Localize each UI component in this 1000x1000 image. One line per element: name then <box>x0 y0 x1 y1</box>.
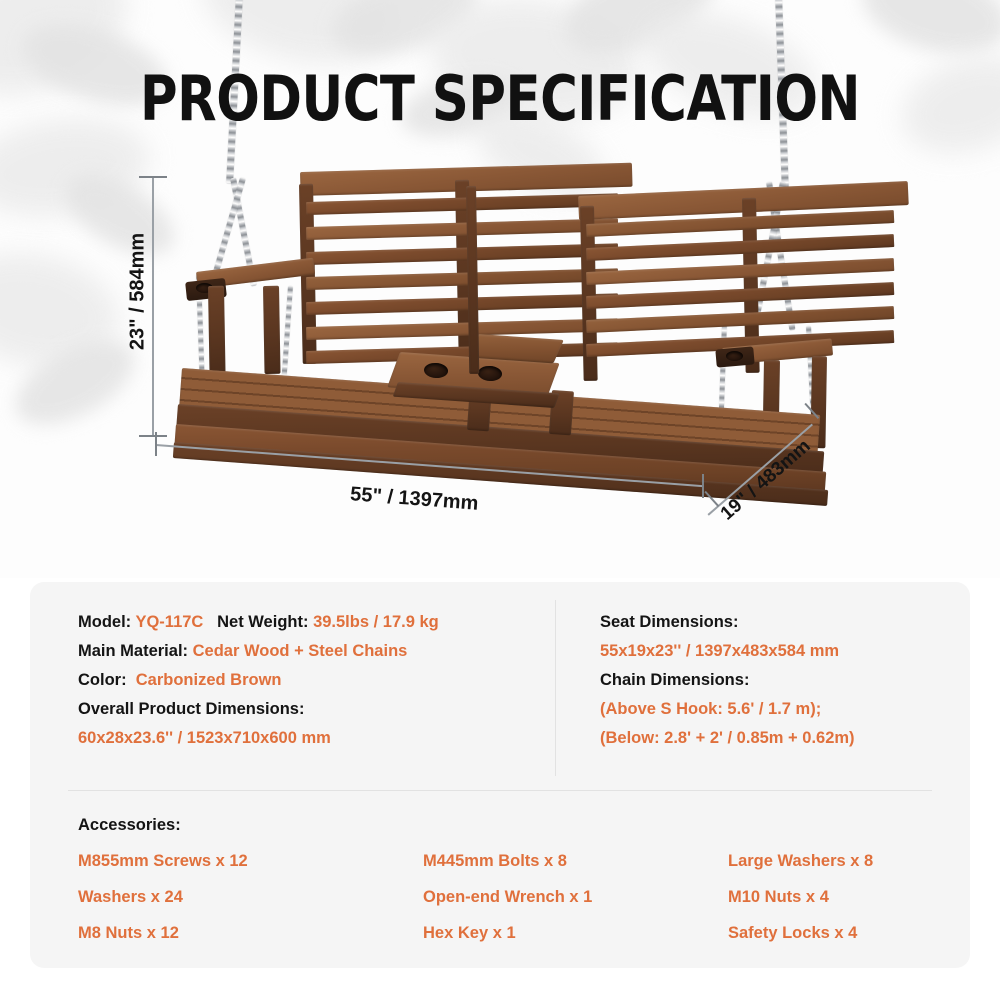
chain-left-seat <box>282 286 293 376</box>
spec-value-net-weight: 39.5lbs / 17.9 kg <box>313 613 439 631</box>
accessory-item: M8 Nuts x 12 <box>78 922 179 944</box>
spec-label-net-weight: Net Weight: <box>217 613 308 631</box>
spec-value-seat-dimensions: 55x19x23'' / 1397x483x584 mm <box>600 637 950 666</box>
accessories-section: Accessories: M855mm Screws x 12 Washers … <box>78 810 958 954</box>
product-photo: 23" / 584mm 55" / 1397mm 19" / 483mm PRO… <box>0 0 1000 578</box>
backrest-right-slat <box>586 234 894 261</box>
spec-row-color: Color: Carbonized Brown <box>78 666 548 695</box>
panel-horizontal-divider <box>68 790 932 791</box>
spec-label-color: Color: <box>78 671 127 689</box>
armrest-left-post-front <box>208 286 226 376</box>
backrest-right-slat <box>586 306 894 333</box>
spec-value-color: Carbonized Brown <box>136 671 282 689</box>
accessory-item: Safety Locks x 4 <box>728 922 857 944</box>
accessory-item: Large Washers x 8 <box>728 850 873 872</box>
panel-vertical-divider <box>555 600 556 776</box>
backrest-right-slat <box>586 258 894 285</box>
dimension-cap-width-left <box>155 432 157 456</box>
armrest-left-post-rear <box>263 286 281 374</box>
spec-label-seat-dimensions: Seat Dimensions: <box>600 608 950 637</box>
specification-panel: Model: YQ-117C Net Weight: 39.5lbs / 17.… <box>30 582 970 968</box>
armrest-right-cupholder <box>726 351 743 361</box>
spec-value-main-material: Cedar Wood + Steel Chains <box>193 642 408 660</box>
accessory-item: M445mm Bolts x 8 <box>423 850 567 872</box>
spec-label-main-material: Main Material: <box>78 642 188 660</box>
dimension-line-height <box>152 176 154 436</box>
spec-value-overall-dimensions: 60x28x23.6'' / 1523x710x600 mm <box>78 724 548 753</box>
dimension-cap-height-bottom <box>139 435 167 437</box>
spec-column-left: Model: YQ-117C Net Weight: 39.5lbs / 17.… <box>78 608 548 753</box>
spec-label-model: Model: <box>78 613 131 631</box>
spec-label-overall-dimensions: Overall Product Dimensions: <box>78 700 304 718</box>
page-title: PRODUCT SPECIFICATION <box>40 62 960 135</box>
dimension-label-height: 23" / 584mm <box>127 212 150 372</box>
accessory-item: Hex Key x 1 <box>423 922 516 944</box>
accessory-item: M855mm Screws x 12 <box>78 850 248 872</box>
accessories-grid: M855mm Screws x 12 Washers x 24 M8 Nuts … <box>78 844 958 954</box>
spec-label-chain-dimensions: Chain Dimensions: <box>600 666 950 695</box>
center-post <box>466 186 479 374</box>
spec-row-model: Model: YQ-117C Net Weight: 39.5lbs / 17.… <box>78 608 548 637</box>
backrest-right-slat <box>586 282 894 309</box>
spec-value-chain-below-hook: (Below: 2.8' + 2' / 0.85m + 0.62m) <box>600 724 950 753</box>
accessory-item: Washers x 24 <box>78 886 183 908</box>
spec-row-overall-dimensions-label: Overall Product Dimensions: <box>78 695 548 724</box>
spec-column-right: Seat Dimensions: 55x19x23'' / 1397x483x5… <box>600 608 950 753</box>
dimension-cap-height-top <box>139 176 167 178</box>
dimension-label-width: 55" / 1397mm <box>349 483 479 516</box>
spec-row-main-material: Main Material: Cedar Wood + Steel Chains <box>78 637 548 666</box>
accessory-item: M10 Nuts x 4 <box>728 886 829 908</box>
spec-value-chain-above-hook: (Above S Hook: 5.6' / 1.7 m); <box>600 695 950 724</box>
accessories-title: Accessories: <box>78 810 958 840</box>
spec-value-model: YQ-117C <box>135 613 203 631</box>
dimension-cap-width-right <box>702 474 704 498</box>
accessory-item: Open-end Wrench x 1 <box>423 886 592 908</box>
